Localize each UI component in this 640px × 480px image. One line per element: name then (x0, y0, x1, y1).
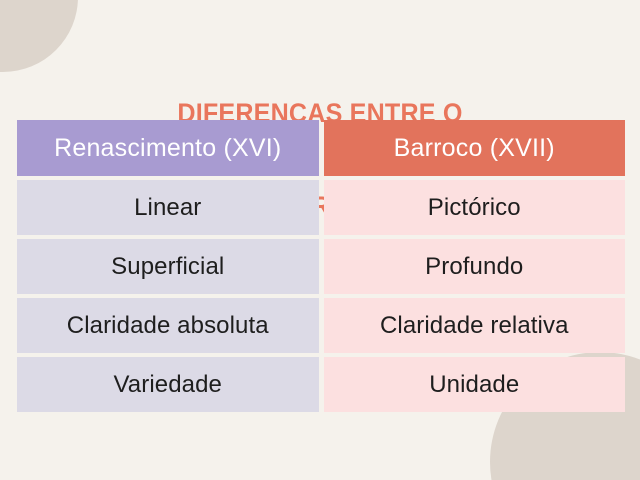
table-cell-renascimento: Linear (17, 180, 319, 235)
table-row: Claridade absoluta Claridade relativa (17, 298, 625, 353)
table-header-cell-barroco: Barroco (XVII) (324, 120, 626, 176)
table-cell-renascimento: Variedade (17, 357, 319, 412)
table-header-cell-renascimento: Renascimento (XVI) (17, 120, 319, 176)
table-cell-renascimento: Superficial (17, 239, 319, 294)
table-row: Linear Pictórico (17, 180, 625, 235)
table-cell-barroco: Pictórico (324, 180, 626, 235)
table-cell-barroco: Claridade relativa (324, 298, 626, 353)
table-cell-renascimento: Claridade absoluta (17, 298, 319, 353)
table-cell-barroco: Profundo (324, 239, 626, 294)
comparison-table: Renascimento (XVI) Barroco (XVII) Linear… (17, 120, 625, 412)
table-cell-barroco: Unidade (324, 357, 626, 412)
slide-canvas: DIFERENÇAS ENTRE O BARROCO E O RENASCIME… (0, 0, 640, 480)
table-header-row: Renascimento (XVI) Barroco (XVII) (17, 120, 625, 176)
table-row: Variedade Unidade (17, 357, 625, 412)
table-row: Superficial Profundo (17, 239, 625, 294)
